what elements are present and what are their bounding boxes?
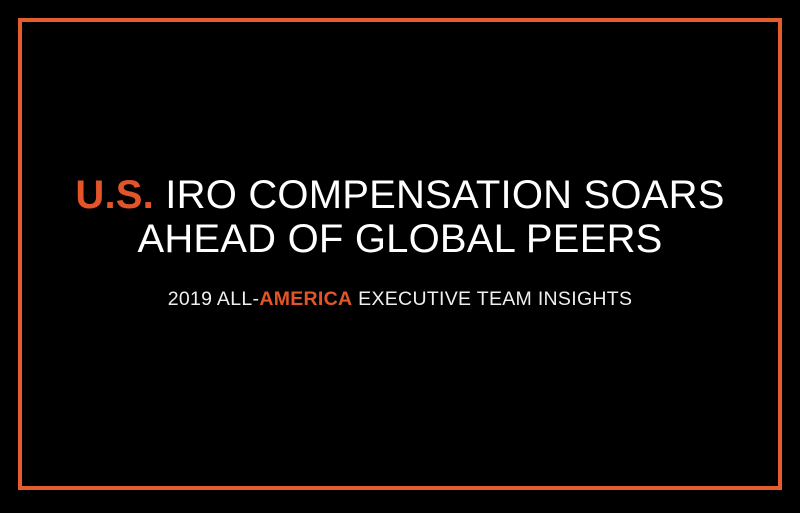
subtitle-accent-america: AMERICA	[259, 288, 352, 310]
title-line-2: AHEAD OF GLOBAL PEERS	[75, 217, 724, 261]
slide-subtitle: 2019 ALL-AMERICA EXECUTIVE TEAM INSIGHTS	[168, 287, 633, 311]
title-line-1-rest: IRO COMPENSATION SOARS	[154, 173, 725, 217]
subtitle-suffix: EXECUTIVE TEAM INSIGHTS	[352, 288, 632, 310]
subtitle-prefix: 2019 ALL-	[168, 288, 260, 310]
title-line-1: U.S. IRO COMPENSATION SOARS	[75, 173, 724, 217]
slide-content: U.S. IRO COMPENSATION SOARS AHEAD OF GLO…	[22, 22, 778, 486]
slide-title: U.S. IRO COMPENSATION SOARS AHEAD OF GLO…	[75, 173, 724, 261]
title-accent-us: U.S.	[75, 173, 154, 217]
title-slide: U.S. IRO COMPENSATION SOARS AHEAD OF GLO…	[0, 0, 800, 513]
